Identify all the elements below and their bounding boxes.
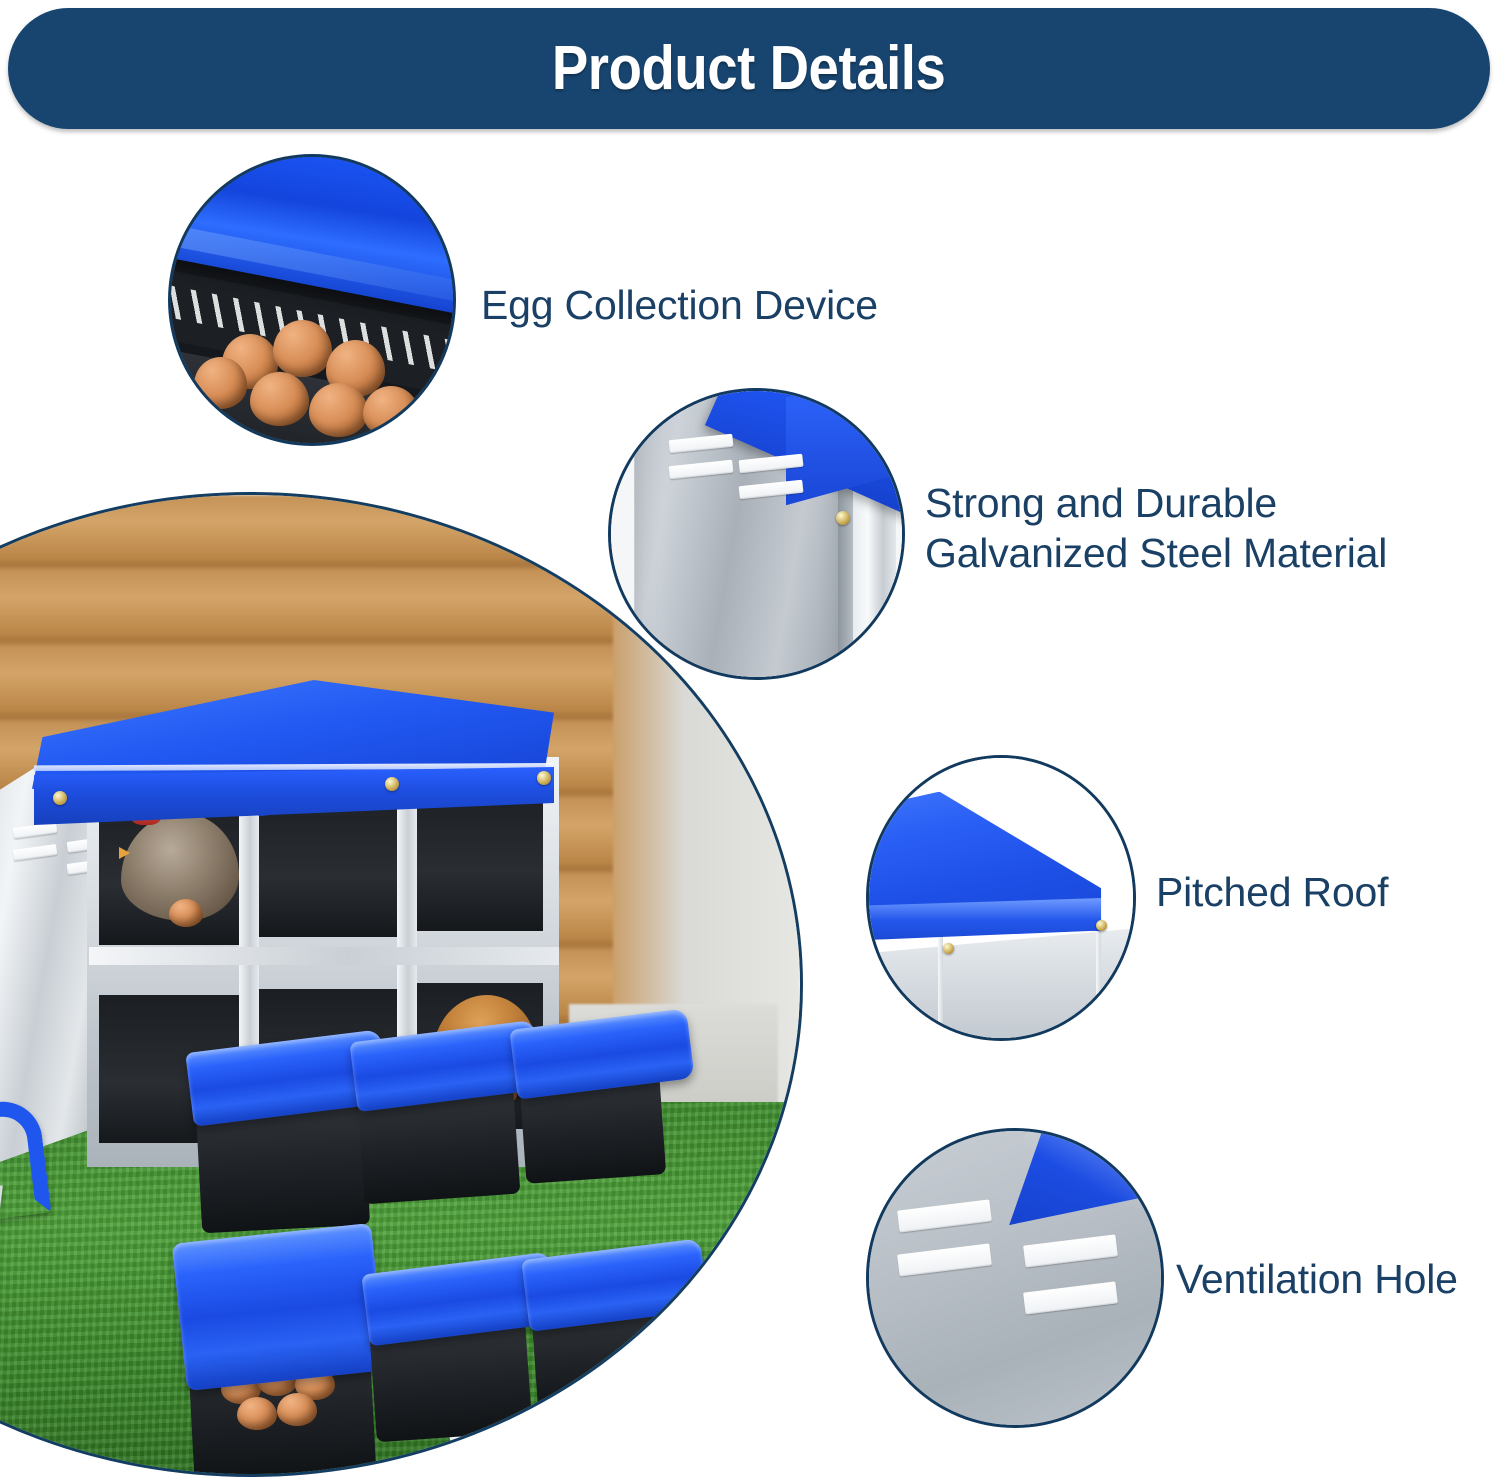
egg-roll-out-tray-open [172, 1223, 386, 1391]
pitched-roof-photo [866, 755, 1136, 1041]
roof-screw [537, 771, 551, 785]
feature-label-galvanized-steel: Strong and Durable Galvanized Steel Mate… [925, 478, 1387, 578]
ventilation-slots-icon [869, 1131, 1161, 1425]
egg-collection-device-photo [168, 154, 456, 446]
egg-in-bin [277, 1393, 317, 1426]
roof-screw [385, 777, 399, 791]
main-product-photo [0, 492, 803, 1477]
egg-tray-icon [171, 157, 453, 443]
egg-in-nest [169, 899, 203, 927]
compartment-shelf [89, 947, 559, 965]
nesting-box-scene [0, 495, 800, 1474]
feature-label-ventilation-hole: Ventilation Hole [1176, 1254, 1458, 1304]
egg-in-bin [237, 1397, 277, 1430]
hen-beak [119, 847, 130, 859]
page-header-banner: Product Details [8, 8, 1490, 129]
roof-screw [53, 791, 67, 805]
feature-label-egg-collection-device: Egg Collection Device [481, 280, 878, 330]
pitched-roof-icon [869, 758, 1133, 1038]
ventilation-hole-photo [866, 1128, 1164, 1428]
page-title: Product Details [552, 33, 946, 104]
feature-label-pitched-roof: Pitched Roof [1156, 867, 1388, 917]
